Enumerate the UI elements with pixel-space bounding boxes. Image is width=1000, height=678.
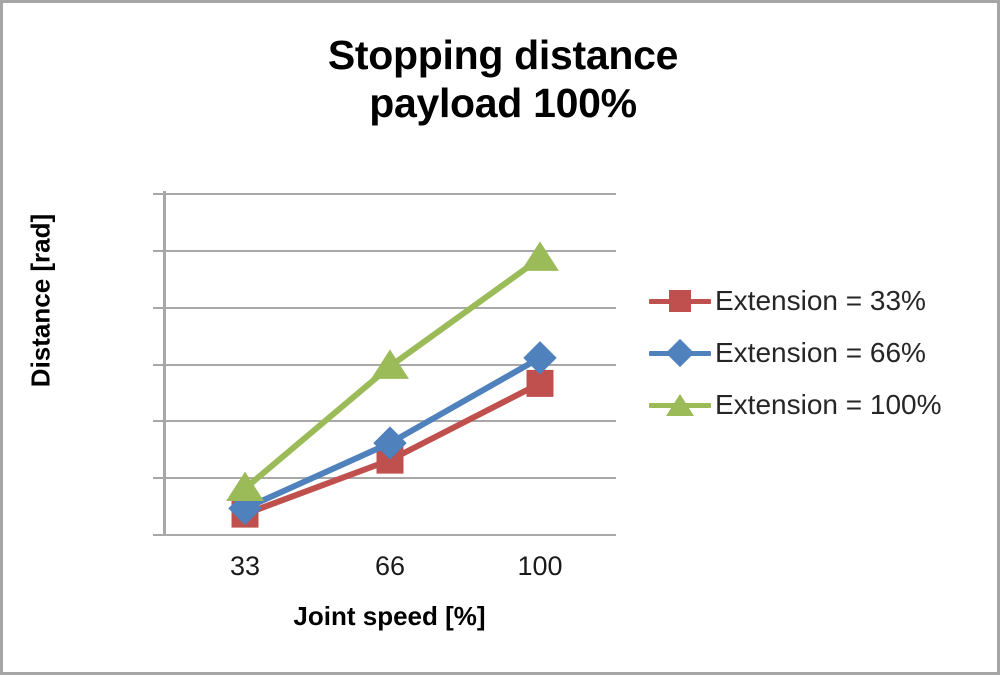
gridline [163,477,616,479]
gridline [163,307,616,309]
legend-marker [666,339,694,367]
y-axis-tick [153,307,163,309]
legend-label: Extension = 100% [711,389,942,421]
y-axis-tick [153,534,163,536]
gridline [163,193,616,195]
chart-title-line1: Stopping distance [328,32,678,78]
legend-marker [669,290,691,312]
legend-key-triangle-icon [649,390,711,420]
x-axis-title: Joint speed [%] [163,601,616,632]
chart-title: Stopping distance payload 100% [133,31,873,128]
y-axis-tick [153,364,163,366]
legend-key-square-icon [649,286,711,316]
y-axis-title: Distance [rad] [26,201,57,401]
y-axis-tick [153,250,163,252]
x-axis-tick-label: 100 [485,551,595,582]
chart-figure: Stopping distance payload 100% Distance … [0,0,1000,675]
chart-title-line2: payload 100% [133,79,873,127]
y-axis-tick [153,477,163,479]
x-axis-tick-label: 66 [335,551,445,582]
legend-label: Extension = 66% [711,337,926,369]
y-axis-tick [153,193,163,195]
gridline [163,364,616,366]
gridline [163,250,616,252]
gridline [163,420,616,422]
legend-item[interactable]: Extension = 33% [649,275,989,327]
legend-item[interactable]: Extension = 66% [649,327,989,379]
legend-key-diamond-icon [649,338,711,368]
legend-item[interactable]: Extension = 100% [649,379,989,431]
gridline [163,534,616,536]
y-axis-tick [153,420,163,422]
legend-marker [666,394,694,416]
legend-label: Extension = 33% [711,285,926,317]
chart-legend: Extension = 33%Extension = 66%Extension … [649,275,989,431]
x-axis-tick-label: 33 [190,551,300,582]
plot-area [163,193,616,534]
